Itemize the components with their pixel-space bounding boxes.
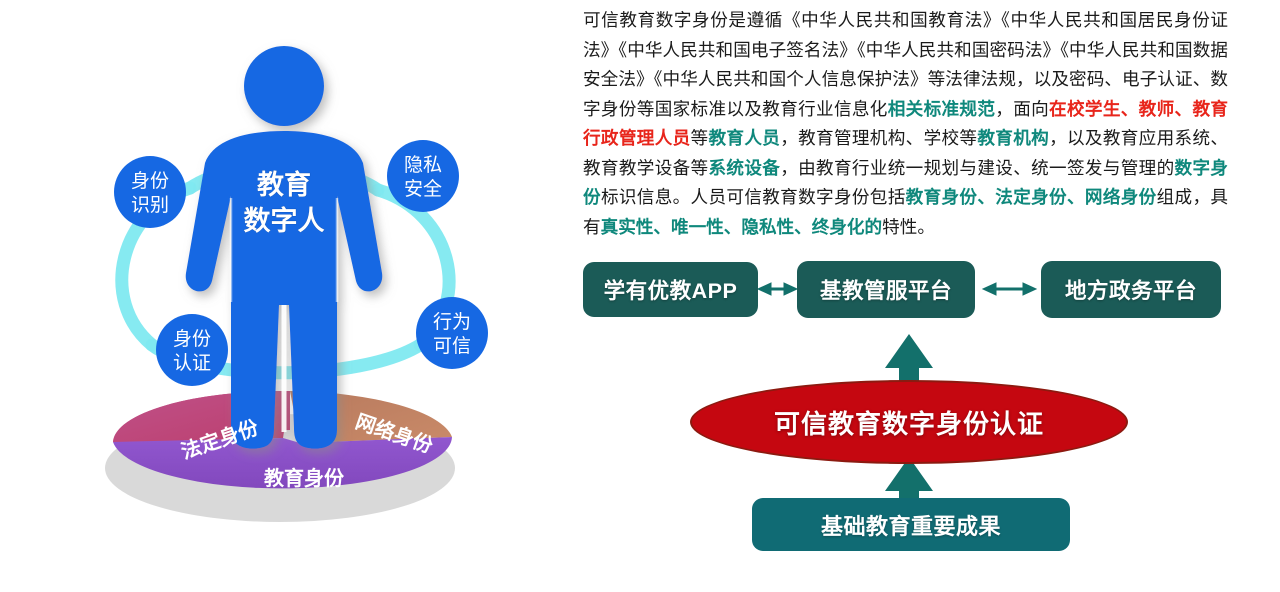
definition-paragraph: 可信教育数字身份是遵循《中华人民共和国教育法》《中华人民共和国居民身份证法》《中… xyxy=(583,6,1228,242)
flow-box-basic-education-platform[interactable]: 基教管服平台 xyxy=(797,261,975,318)
orbit-node-circle xyxy=(156,314,228,386)
orbit-node-line2: 安全 xyxy=(404,178,442,200)
definition-text-segment: ，教育管理机构、学校等 xyxy=(780,128,977,148)
flow-box-youjiao-app[interactable]: 学有优教APP xyxy=(583,262,758,317)
orbit-node-line1: 身份 xyxy=(131,170,169,192)
definition-text-segment: ，由教育行业统一规划与建设、统一签发与管理的 xyxy=(780,158,1174,178)
flow-diagram: 学有优教APP 基教管服平台 地方政务平台 可信教育数字身份认证 基础教育重要成… xyxy=(575,248,1280,578)
orbit-node-line2: 认证 xyxy=(173,352,211,374)
orbit-node-identity-auth[interactable]: 身份 认证 xyxy=(156,314,228,386)
orbit-node-circle xyxy=(114,156,186,228)
orbit-node-line1: 隐私 xyxy=(404,154,442,176)
definition-text-segment: 教育人员 xyxy=(708,128,780,148)
orbit-node-line1: 行为 xyxy=(433,311,471,333)
definition-text-segment: 相关标准规范 xyxy=(888,99,996,119)
figure-head xyxy=(244,46,324,126)
arrow-up-outcome-to-cert xyxy=(885,457,933,504)
digital-person-figure xyxy=(186,46,383,449)
flow-ellipse-trusted-identity-authentication[interactable]: 可信教育数字身份认证 xyxy=(690,380,1128,464)
figure-label-line2: 数字人 xyxy=(244,205,325,236)
flow-box-local-government-platform[interactable]: 地方政务平台 xyxy=(1041,261,1221,318)
definition-text-segment: 标识信息。人员可信教育数字身份包括 xyxy=(601,187,906,207)
orbit-node-circle xyxy=(416,297,488,369)
figure-label-line1: 教育 xyxy=(257,169,311,200)
definition-text-segment: 真实性、唯一性、隐私性、终身化的 xyxy=(601,217,883,237)
definition-text-segment: 特性。 xyxy=(882,217,935,237)
orbit-node-line2: 可信 xyxy=(433,335,471,357)
definition-text-segment: ，面向 xyxy=(995,99,1049,119)
orbit-node-privacy-security[interactable]: 隐私 安全 xyxy=(387,140,459,212)
definition-text-segment: 等 xyxy=(691,128,709,148)
definition-text-segment: 系统设备 xyxy=(708,158,780,178)
flow-box-basic-education-outcome[interactable]: 基础教育重要成果 xyxy=(752,498,1070,551)
orbit-node-line2: 识别 xyxy=(131,194,169,216)
definition-text-segment: 教育机构 xyxy=(977,128,1049,148)
digital-identity-illustration: 教育 数字人 身份 识别 隐私 安全 身份 认证 行为 可信 法定身份 网络身份… xyxy=(0,0,575,592)
orbit-node-identity-recognition[interactable]: 身份 识别 xyxy=(114,156,186,228)
right-content-panel: 可信教育数字身份是遵循《中华人民共和国教育法》《中华人民共和国居民身份证法》《中… xyxy=(575,0,1280,592)
arrow-app-platform xyxy=(758,283,797,295)
definition-text-segment: 教育身份、法定身份、网络身份 xyxy=(906,187,1157,207)
arrow-platform-gov xyxy=(983,283,1036,295)
base-label-education-identity: 教育身份 xyxy=(264,466,345,490)
orbit-node-line1: 身份 xyxy=(173,328,211,350)
orbit-node-behavior-trust[interactable]: 行为 可信 xyxy=(416,297,488,369)
orbit-node-circle xyxy=(387,140,459,212)
